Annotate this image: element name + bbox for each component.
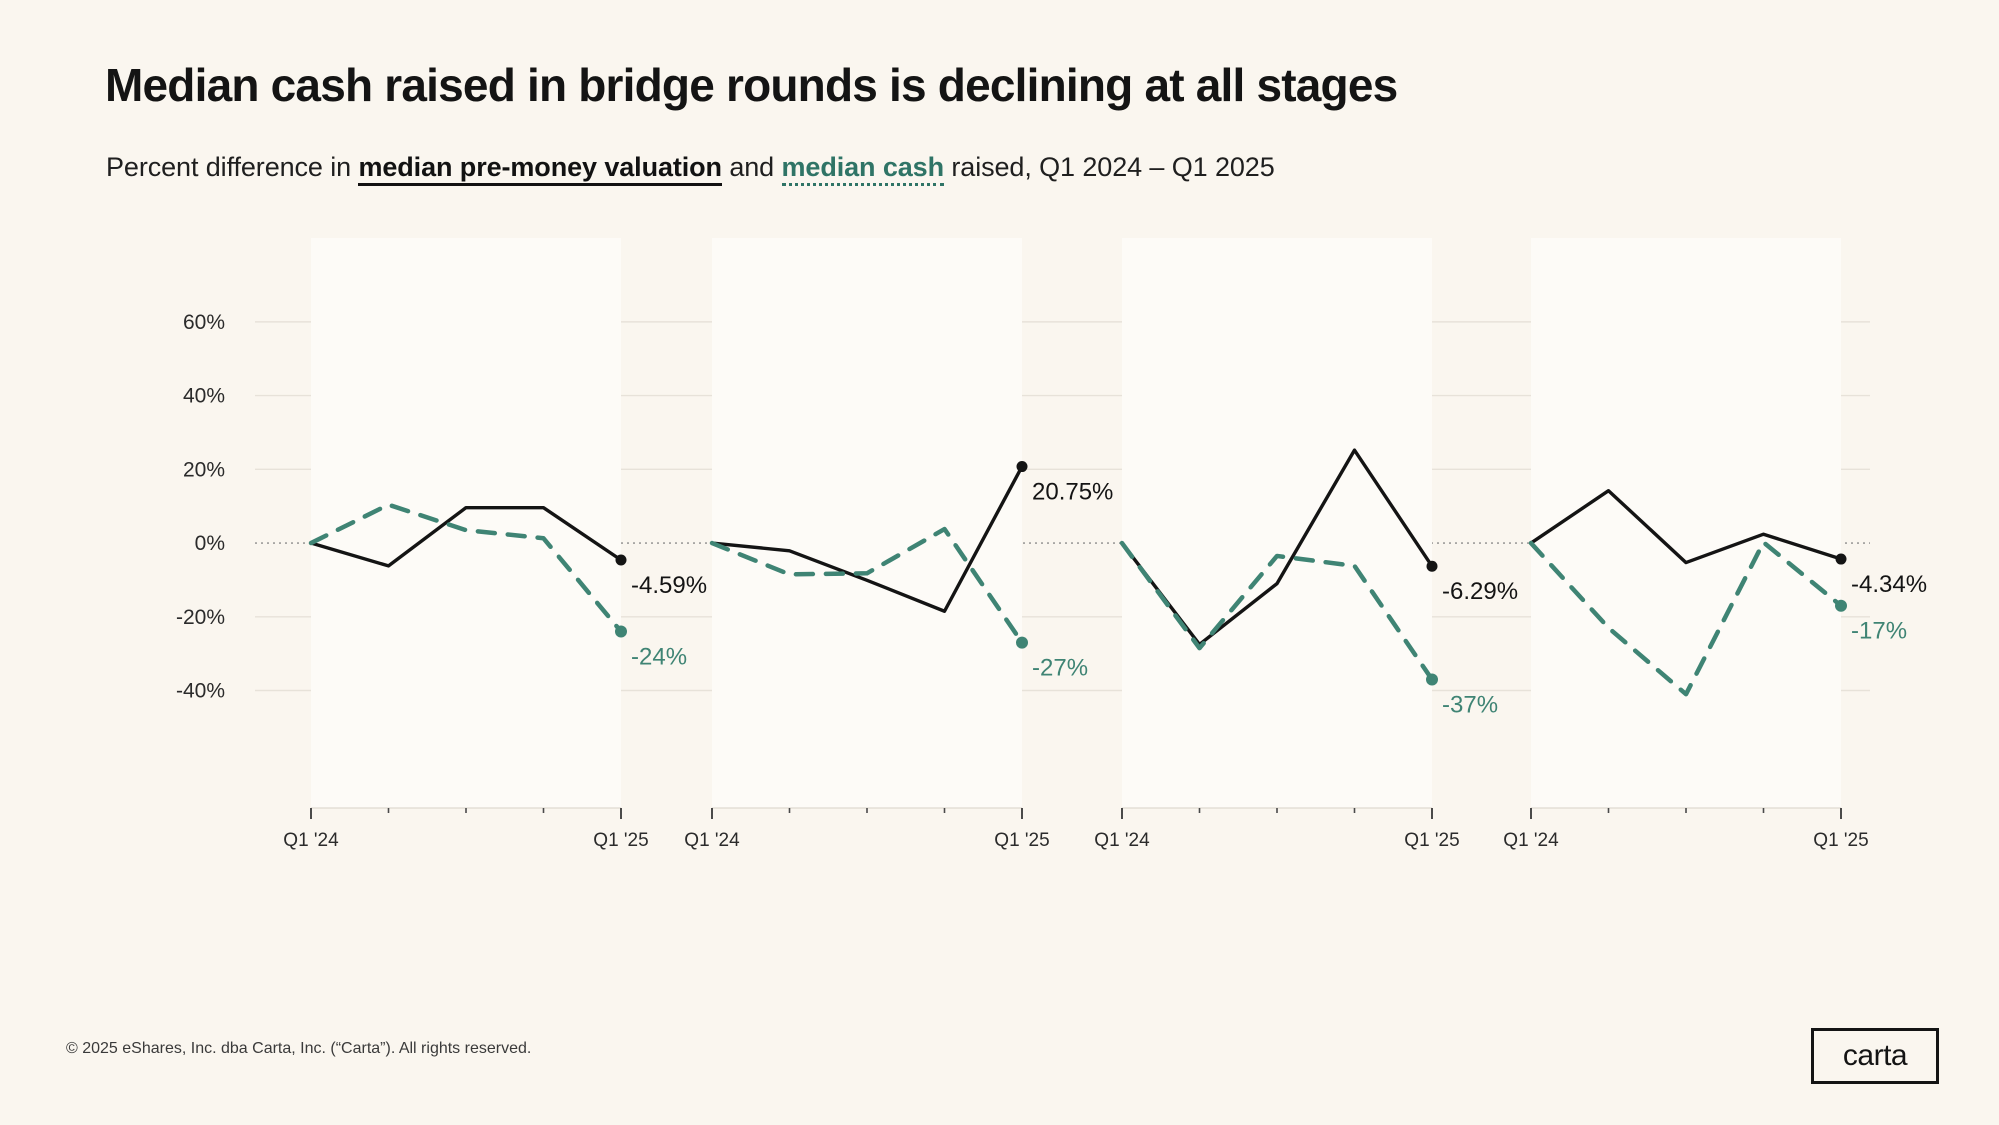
series-endpoint-marker (1835, 600, 1847, 612)
small-multiples-chart: 60%40%20%0%-20%-40%SeedQ1 '24Q1 '25-4.59… (0, 230, 1999, 970)
series-end-label: -17% (1851, 618, 1907, 645)
series-endpoint-marker (1017, 461, 1028, 472)
series-endpoint-marker (1427, 561, 1438, 572)
panel-series-b: Series BQ1 '24Q1 '25-6.29%-37% (1094, 230, 1518, 851)
series-end-label: -37% (1442, 691, 1498, 718)
x-axis-tick-label: Q1 '25 (1404, 830, 1459, 851)
panel-title: Series C (1640, 230, 1732, 236)
carta-logo-text: carta (1843, 1041, 1907, 1071)
y-axis-tick-label: 0% (195, 532, 225, 555)
series-end-label: -4.59% (631, 572, 707, 599)
x-axis-tick-label: Q1 '25 (593, 830, 648, 851)
series-endpoint-marker (1426, 673, 1438, 685)
x-axis-tick-label: Q1 '25 (1813, 830, 1868, 851)
y-axis-tick-label: 60% (183, 311, 225, 334)
carta-logo: carta (1811, 1028, 1939, 1084)
x-axis-tick-label: Q1 '24 (684, 830, 740, 851)
copyright-note: © 2025 eShares, Inc. dba Carta, Inc. (“C… (66, 1040, 531, 1058)
series-end-label: -4.34% (1851, 571, 1927, 598)
series-endpoint-marker (1836, 554, 1847, 565)
subtitle-cash-term: median cash (782, 152, 944, 186)
series-end-label: 20.75% (1032, 479, 1113, 506)
subtitle-valuation-term: median pre-money valuation (358, 152, 721, 186)
y-axis-tick-label: -40% (176, 680, 225, 703)
panel-series-c: Series CQ1 '24Q1 '25-4.34%-17% (1503, 230, 1927, 851)
panel-seed: SeedQ1 '24Q1 '25-4.59%-24% (283, 230, 707, 851)
subtitle-text-1: Percent difference in (106, 152, 358, 182)
series-end-label: -24% (631, 644, 687, 671)
subtitle-text-3: raised, Q1 2024 – Q1 2025 (944, 152, 1275, 182)
series-endpoint-marker (616, 554, 627, 565)
panel-background (712, 238, 1022, 808)
y-axis-tick-label: 40% (183, 385, 225, 408)
panel-title: Seed (438, 230, 494, 236)
x-axis-tick-label: Q1 '24 (283, 830, 339, 851)
x-axis-tick-label: Q1 '24 (1503, 830, 1559, 851)
panel-background (311, 238, 621, 808)
subtitle-text-2: and (722, 152, 782, 182)
y-axis-tick-label: -20% (176, 606, 225, 629)
chart-svg: 60%40%20%0%-20%-40%SeedQ1 '24Q1 '25-4.59… (0, 230, 1999, 970)
series-endpoint-marker (1016, 637, 1028, 649)
panel-background (1531, 238, 1841, 808)
panel-background (1122, 238, 1432, 808)
page-title: Median cash raised in bridge rounds is d… (105, 58, 1397, 112)
panel-title: Series A (822, 230, 911, 236)
panel-series-a: Series AQ1 '24Q1 '2520.75%-27% (684, 230, 1113, 851)
series-endpoint-marker (615, 626, 627, 638)
x-axis-tick-label: Q1 '25 (994, 830, 1049, 851)
chart-page: Median cash raised in bridge rounds is d… (0, 0, 1999, 1125)
panel-title: Series B (1232, 230, 1323, 236)
page-subtitle: Percent difference in median pre-money v… (106, 152, 1275, 183)
series-end-label: -27% (1032, 655, 1088, 682)
y-axis-tick-label: 20% (183, 458, 225, 481)
x-axis-tick-label: Q1 '24 (1094, 830, 1150, 851)
series-end-label: -6.29% (1442, 578, 1518, 605)
